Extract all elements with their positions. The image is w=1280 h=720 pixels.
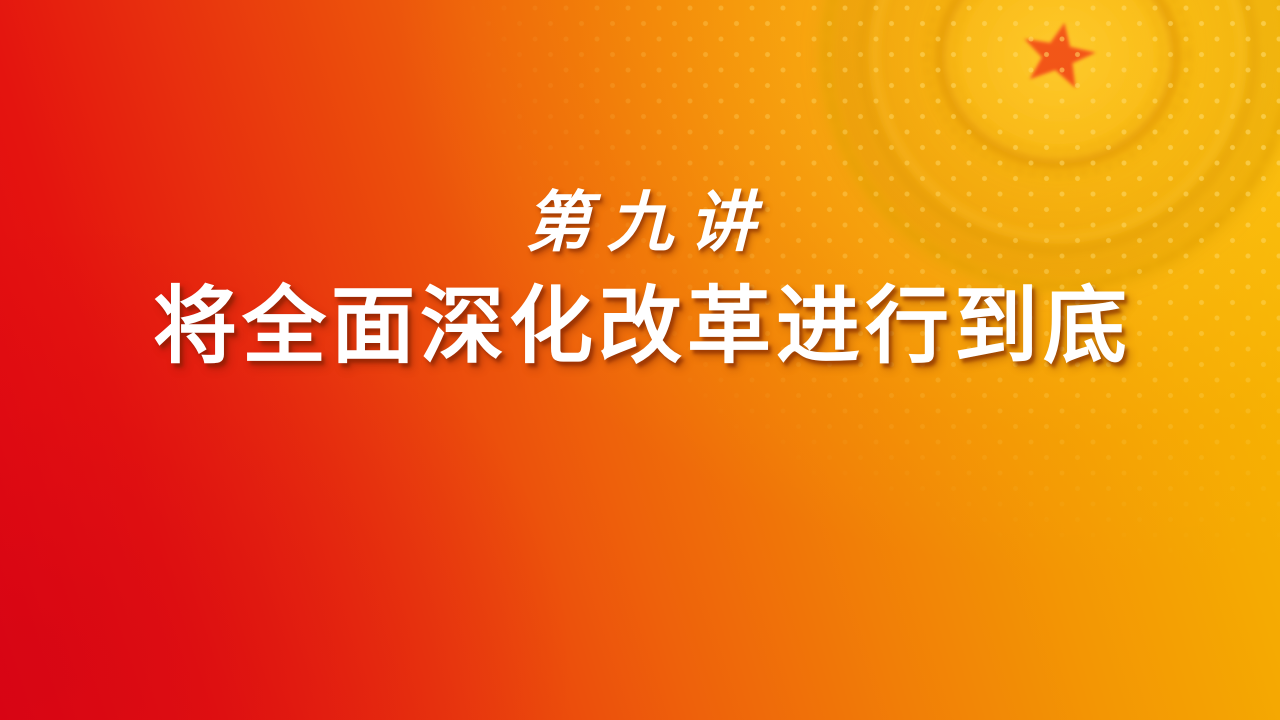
title-slide: 第九讲 将全面深化改革进行到底 xyxy=(0,0,1280,720)
lecture-subtitle: 第九讲 xyxy=(0,186,1280,260)
page-title: 将全面深化改革进行到底 xyxy=(0,282,1280,374)
title-text-block: 第九讲 将全面深化改革进行到底 xyxy=(0,186,1280,374)
